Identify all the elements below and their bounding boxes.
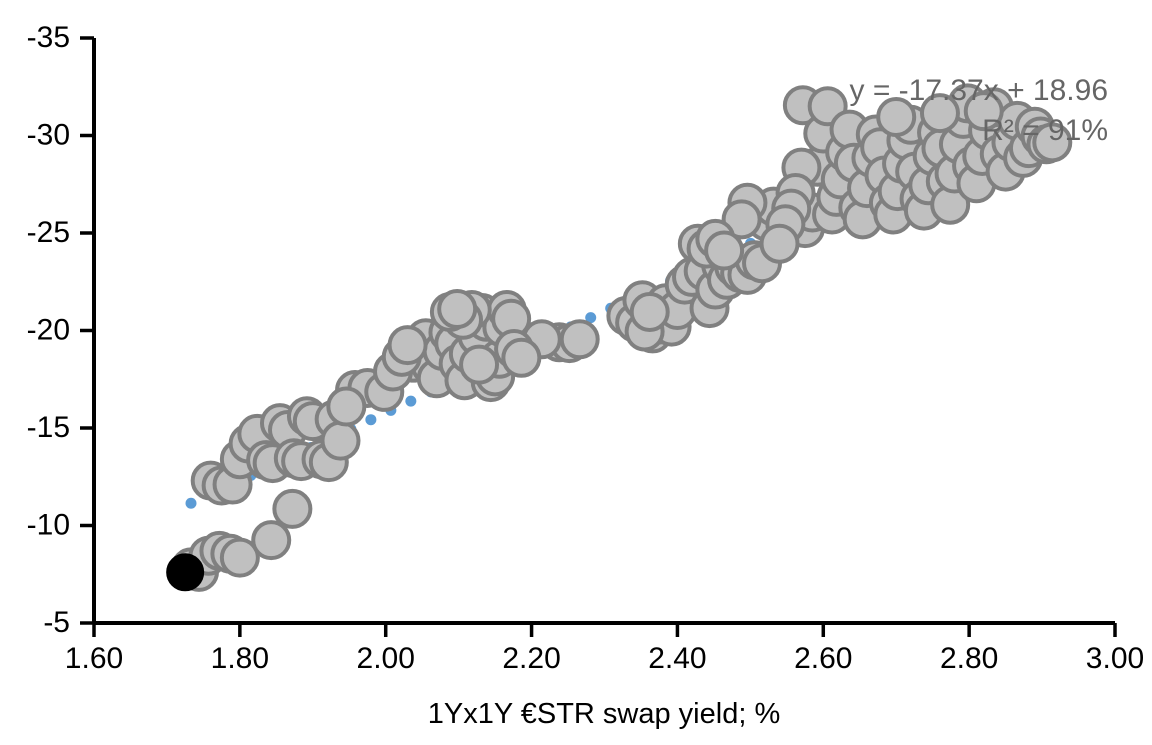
x-tick-label: 2.20 <box>502 642 560 675</box>
y-tick-label: -35 <box>27 21 70 54</box>
y-tick-label: -15 <box>27 411 70 444</box>
highlighted-marker <box>168 555 202 589</box>
x-tick-label: 1.60 <box>65 642 123 675</box>
scatter-point <box>274 491 310 527</box>
scatter-point <box>461 347 497 383</box>
r-squared-label: R² = 91% <box>982 114 1108 147</box>
trendline-dot <box>365 414 376 425</box>
scatter-point <box>562 321 598 357</box>
scatter-point <box>503 340 539 376</box>
scatter-point <box>390 327 426 363</box>
y-tick-label: -30 <box>27 118 70 151</box>
trendline-dot <box>405 396 416 407</box>
x-tick-label: 2.80 <box>940 642 998 675</box>
x-tick-label: 2.40 <box>648 642 706 675</box>
y-tick-label: -20 <box>27 313 70 346</box>
y-tick-label: -25 <box>27 216 70 249</box>
scatter-point <box>632 294 668 330</box>
scatter-point <box>762 226 798 262</box>
latest-observation-marker <box>168 555 202 589</box>
scatter-chart-container: -5-10-15-20-25-30-35 1.601.802.002.202.4… <box>0 0 1152 745</box>
x-tick-label: 3.00 <box>1086 642 1144 675</box>
x-axis-title: 1Yx1Y €STR swap yield; % <box>428 698 780 730</box>
scatter-point <box>706 233 742 269</box>
y-tick-label: -10 <box>27 508 70 541</box>
y-tick-label: -5 <box>43 606 70 639</box>
scatter-point <box>253 522 289 558</box>
scatter-point <box>439 291 475 327</box>
x-tick-label: 1.80 <box>211 642 269 675</box>
trendline-equation-label: y = -17.37x + 18.96 <box>849 74 1108 107</box>
scatter-plot: -5-10-15-20-25-30-35 1.601.802.002.202.4… <box>0 0 1152 745</box>
x-tick-label: 2.60 <box>794 642 852 675</box>
scatter-point <box>328 389 364 425</box>
trendline-dot <box>186 498 197 509</box>
scatter-point <box>323 423 359 459</box>
x-tick-label: 2.00 <box>357 642 415 675</box>
